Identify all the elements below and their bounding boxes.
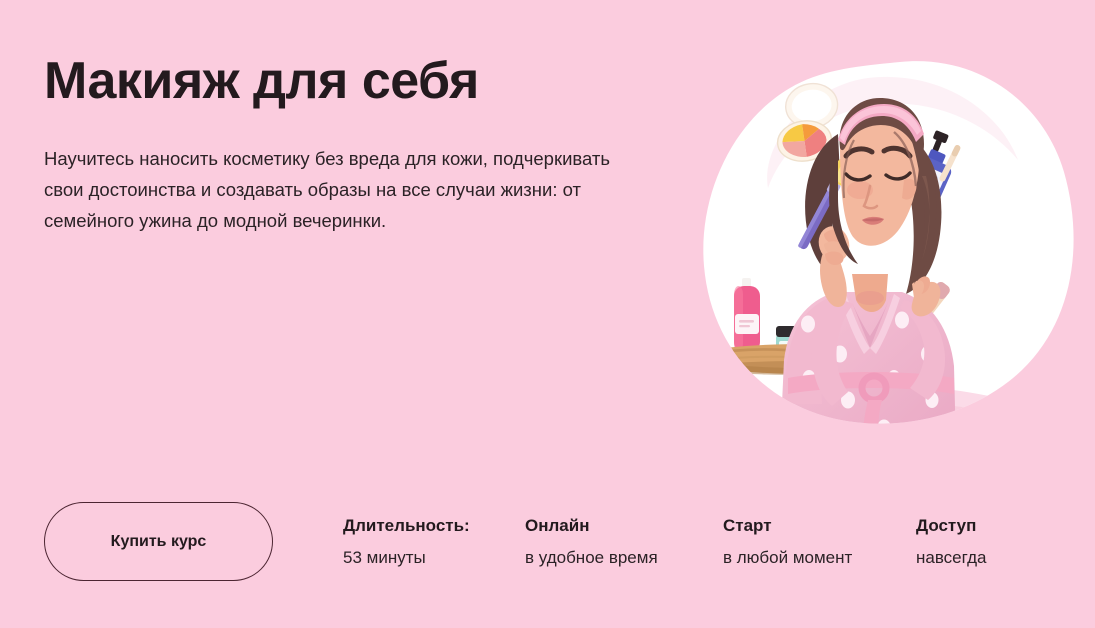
page-description: Научитесь наносить косметику без вреда д… bbox=[44, 143, 654, 236]
stat-label: Длительность: bbox=[343, 515, 525, 537]
stat-format: Онлайн в удобное время bbox=[525, 515, 723, 569]
pink-bottle-icon bbox=[734, 278, 760, 352]
stat-access: Доступ навсегда bbox=[916, 515, 1056, 569]
stat-duration: Длительность: 53 минуты bbox=[343, 515, 525, 569]
stat-value: в удобное время bbox=[525, 547, 723, 569]
stat-label: Онлайн bbox=[525, 515, 723, 537]
stat-label: Старт bbox=[723, 515, 916, 537]
page-title: Макияж для себя bbox=[44, 52, 664, 110]
stat-value: навсегда bbox=[916, 547, 1056, 569]
stat-value: 53 минуты bbox=[343, 547, 525, 569]
stat-label: Доступ bbox=[916, 515, 1056, 537]
hero-page: Макияж для себя Научитесь наносить косме… bbox=[0, 0, 1095, 628]
stat-start: Старт в любой момент bbox=[723, 515, 916, 569]
stat-value: в любой момент bbox=[723, 547, 916, 569]
hero-illustration bbox=[688, 48, 1088, 448]
course-stats: Длительность: 53 минуты Онлайн в удобное… bbox=[343, 515, 1056, 569]
hero-content: Макияж для себя Научитесь наносить косме… bbox=[44, 52, 664, 236]
buy-course-button[interactable]: Купить курс bbox=[44, 502, 273, 581]
